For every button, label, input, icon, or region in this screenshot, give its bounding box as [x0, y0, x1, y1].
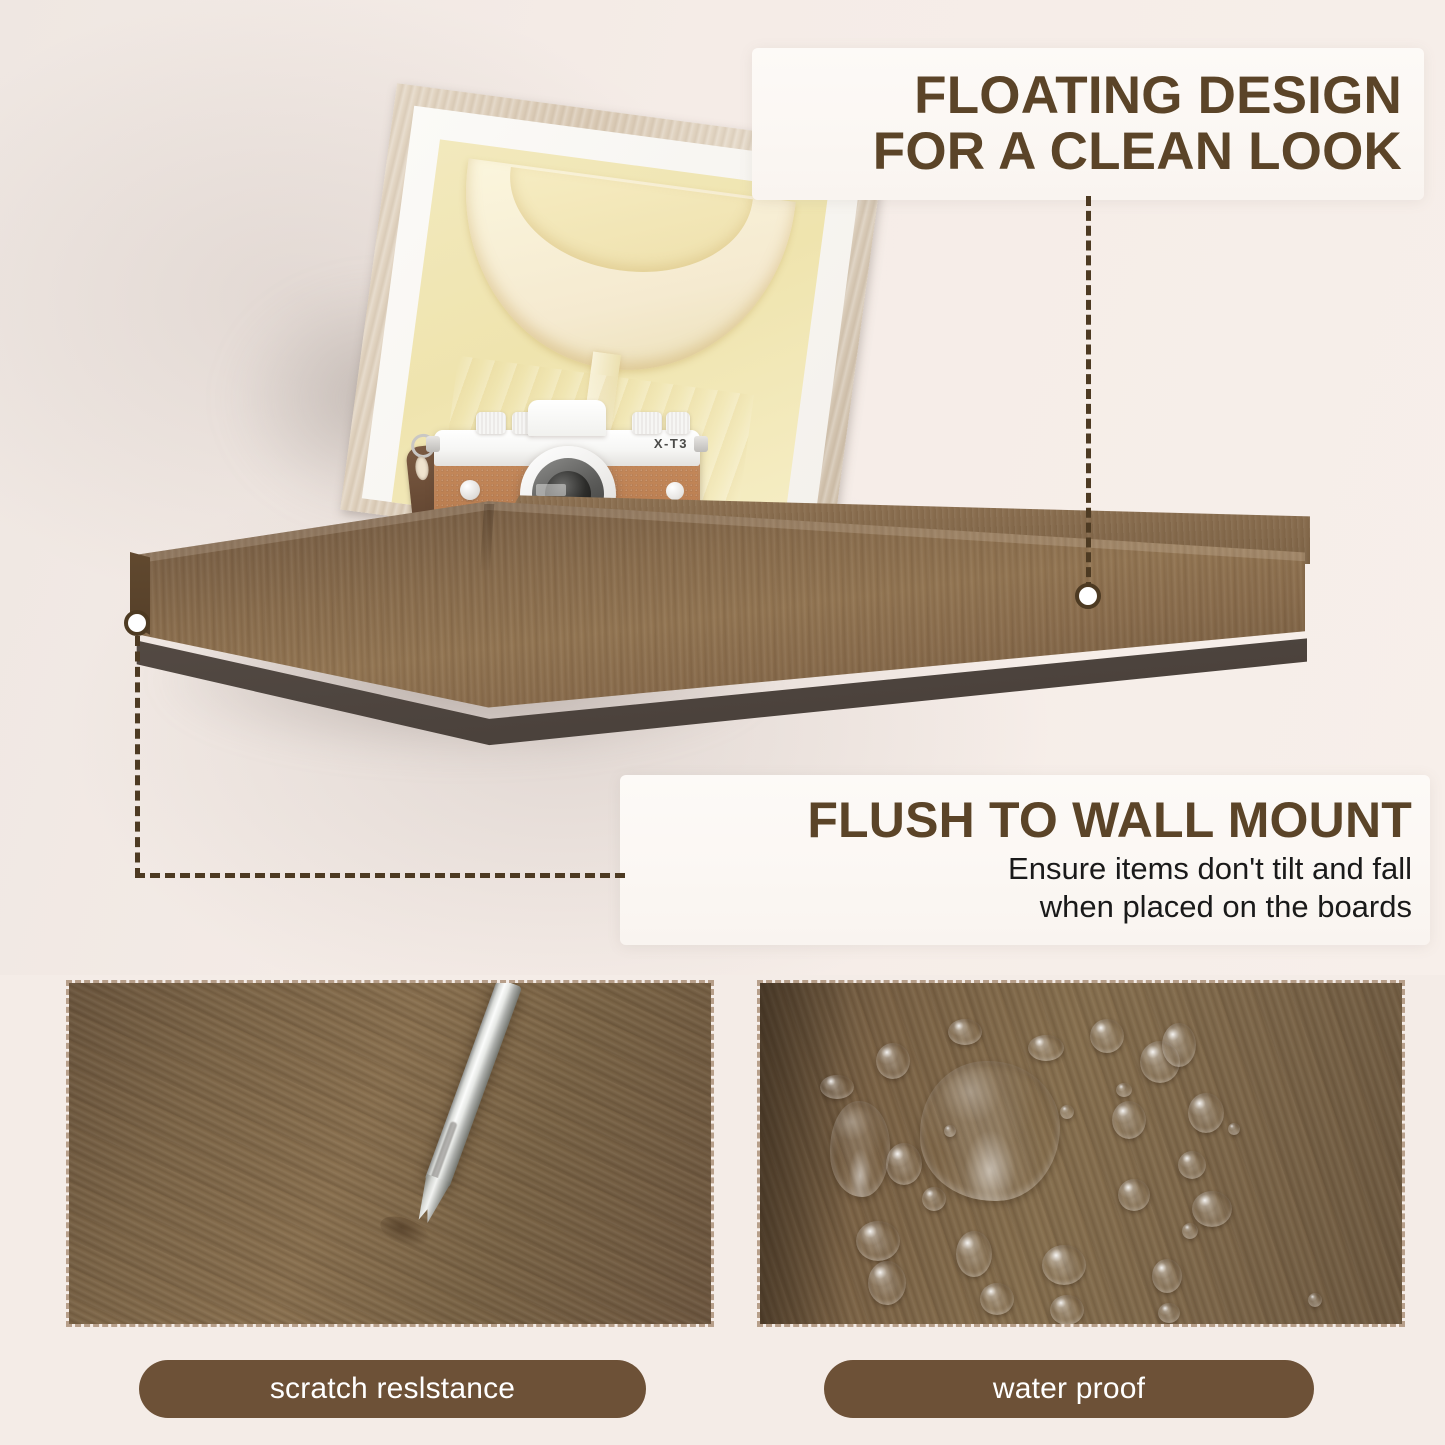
callout-flush-mount-sub2: when placed on the boards: [1040, 888, 1412, 926]
water-droplet: [1162, 1023, 1196, 1067]
callout-flush-mount-headline: FLUSH TO WALL MOUNT: [807, 794, 1412, 847]
water-droplet: [886, 1143, 922, 1185]
camera-viewfinder-prism: [528, 400, 606, 436]
camera-shutter-button: [460, 480, 480, 500]
water-droplet: [1178, 1151, 1206, 1179]
water-droplet: [980, 1283, 1014, 1315]
camera-lens-highlight: [536, 484, 566, 496]
water-droplet: [1182, 1223, 1198, 1239]
water-droplet: [1050, 1295, 1084, 1325]
feature-card-waterproof: [757, 980, 1405, 1327]
water-droplet: [944, 1125, 956, 1137]
connector-line-flush-mount-vertical: [135, 636, 140, 878]
camera-strap-hole: [414, 456, 429, 481]
water-droplet: [1042, 1245, 1086, 1285]
connector-dot-flush-mount: [124, 610, 150, 636]
camera-lug-left: [426, 436, 440, 452]
water-droplet: [876, 1043, 910, 1079]
camera-front-dial: [666, 482, 684, 500]
connector-line-floating-design: [1086, 196, 1091, 592]
callout-floating-design-line1: FLOATING DESIGN: [914, 68, 1402, 124]
water-droplet: [1112, 1101, 1146, 1139]
water-droplet: [1158, 1303, 1180, 1323]
water-droplet: [1028, 1035, 1064, 1061]
callout-flush-mount: FLUSH TO WALL MOUNT Ensure items don't t…: [620, 775, 1430, 945]
water-droplet: [1308, 1293, 1322, 1307]
connector-line-flush-mount-horizontal: [135, 873, 625, 878]
callout-floating-design-line2: FOR A CLEAN LOOK: [873, 124, 1402, 180]
camera-dial-exposure: [632, 412, 662, 434]
water-droplet-large: [920, 1061, 1060, 1201]
water-droplet: [1116, 1083, 1132, 1097]
screwdriver-tip: [411, 1174, 451, 1226]
water-droplet: [956, 1231, 992, 1277]
water-droplet: [820, 1075, 854, 1099]
label-scratch-resistance: scratch reslstance: [139, 1360, 646, 1418]
water-droplet: [1188, 1093, 1224, 1133]
feature-card-scratch: [66, 980, 714, 1327]
water-droplet: [1118, 1179, 1150, 1211]
camera-model-badge: X-T3: [654, 436, 688, 451]
label-water-proof: water proof: [824, 1360, 1314, 1418]
water-droplet: [948, 1019, 982, 1045]
camera-dial-shutter-speed: [476, 412, 506, 434]
water-droplet: [868, 1261, 906, 1305]
camera-lug-right: [694, 436, 708, 452]
callout-floating-design: FLOATING DESIGN FOR A CLEAN LOOK: [752, 48, 1424, 200]
water-droplet-large: [830, 1101, 890, 1197]
water-droplet: [1090, 1019, 1124, 1053]
water-droplet: [922, 1187, 946, 1211]
water-droplet: [1192, 1191, 1232, 1227]
callout-flush-mount-sub1: Ensure items don't tilt and fall: [1008, 850, 1412, 888]
water-droplet: [1228, 1123, 1240, 1135]
water-droplet: [856, 1221, 900, 1261]
water-droplet: [1060, 1105, 1074, 1119]
camera-dial-iso: [666, 412, 690, 434]
floating-shelf: [130, 500, 1305, 770]
wood-surface-scratch: [69, 983, 711, 1324]
artwork-bowl-inner: [499, 167, 752, 286]
connector-dot-floating-design: [1075, 583, 1101, 609]
infographic-canvas: X-T3 FLOATING DESIGN FOR A CLEAN LOOK FL…: [0, 0, 1445, 1445]
water-droplet: [1152, 1259, 1182, 1293]
